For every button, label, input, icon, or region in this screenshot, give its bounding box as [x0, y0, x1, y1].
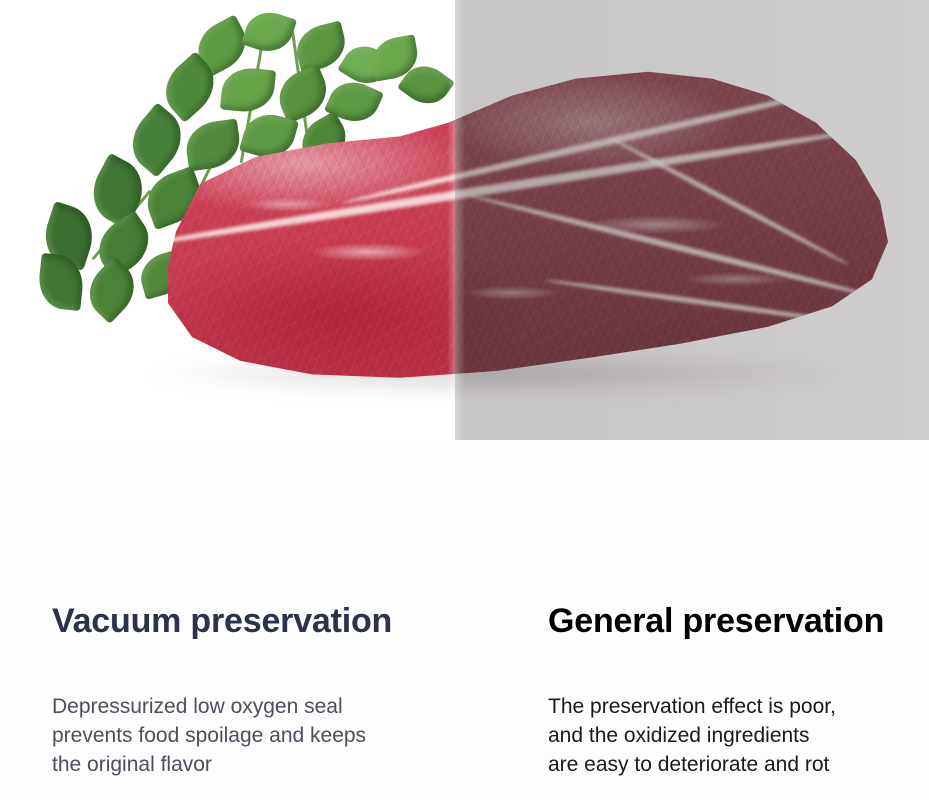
general-preservation-heading: General preservation: [548, 602, 884, 641]
description-line: The preservation effect is poor,: [548, 692, 908, 721]
product-comparison-photo: [0, 0, 929, 440]
description-line: and the oxidized ingredients: [548, 721, 908, 750]
vacuum-preservation-heading: Vacuum preservation: [52, 602, 392, 641]
description-line: are easy to deteriorate and rot: [548, 750, 908, 779]
description-line: prevents food spoilage and keeps: [52, 721, 392, 750]
description-line: the original flavor: [52, 750, 392, 779]
oxidized-half-mask: [455, 0, 929, 440]
comparison-split-divider: [447, 0, 465, 440]
vacuum-preservation-description: Depressurized low oxygen seal prevents f…: [52, 692, 392, 779]
description-line: Depressurized low oxygen seal: [52, 692, 392, 721]
comparison-captions: Vacuum preservation Depressurized low ox…: [0, 440, 929, 800]
general-preservation-description: The preservation effect is poor, and the…: [548, 692, 908, 779]
photo-stage: [0, 0, 929, 440]
